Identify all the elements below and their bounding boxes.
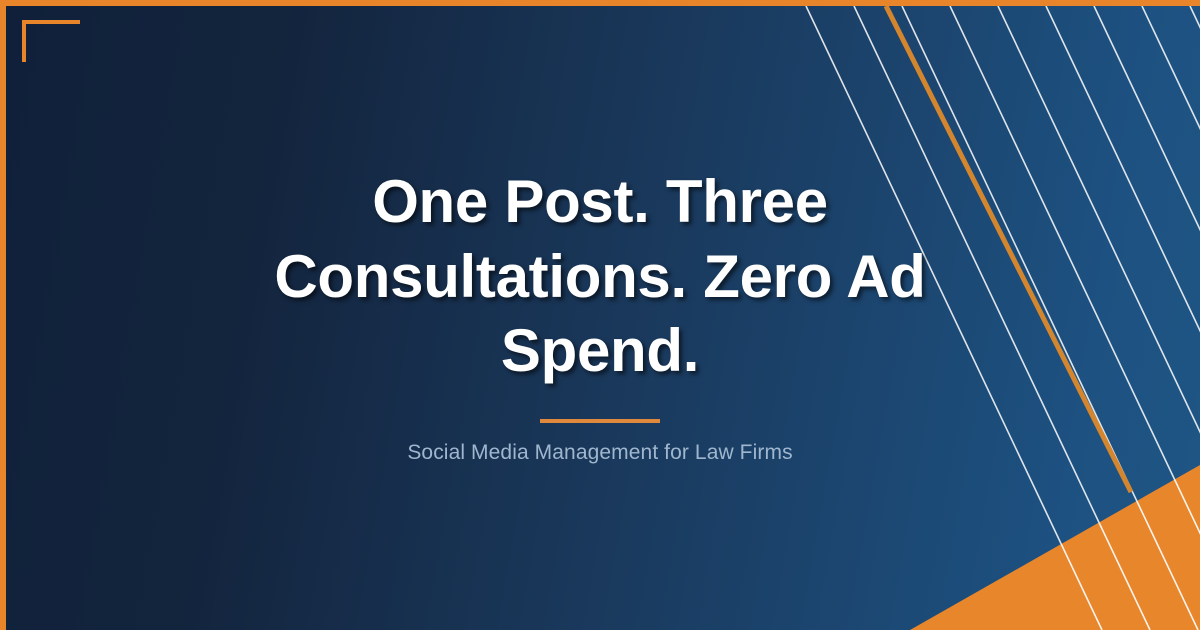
orange-divider-rule (540, 419, 660, 423)
left-orange-edge (0, 0, 6, 630)
top-orange-edge (0, 0, 1200, 6)
title-slide: One Post. Three Consultations. Zero Ad S… (0, 0, 1200, 630)
slide-content: One Post. Three Consultations. Zero Ad S… (0, 0, 1200, 630)
corner-bracket-icon (22, 20, 80, 62)
slide-subtitle: Social Media Management for Law Firms (407, 441, 792, 465)
slide-title: One Post. Three Consultations. Zero Ad S… (250, 165, 950, 388)
